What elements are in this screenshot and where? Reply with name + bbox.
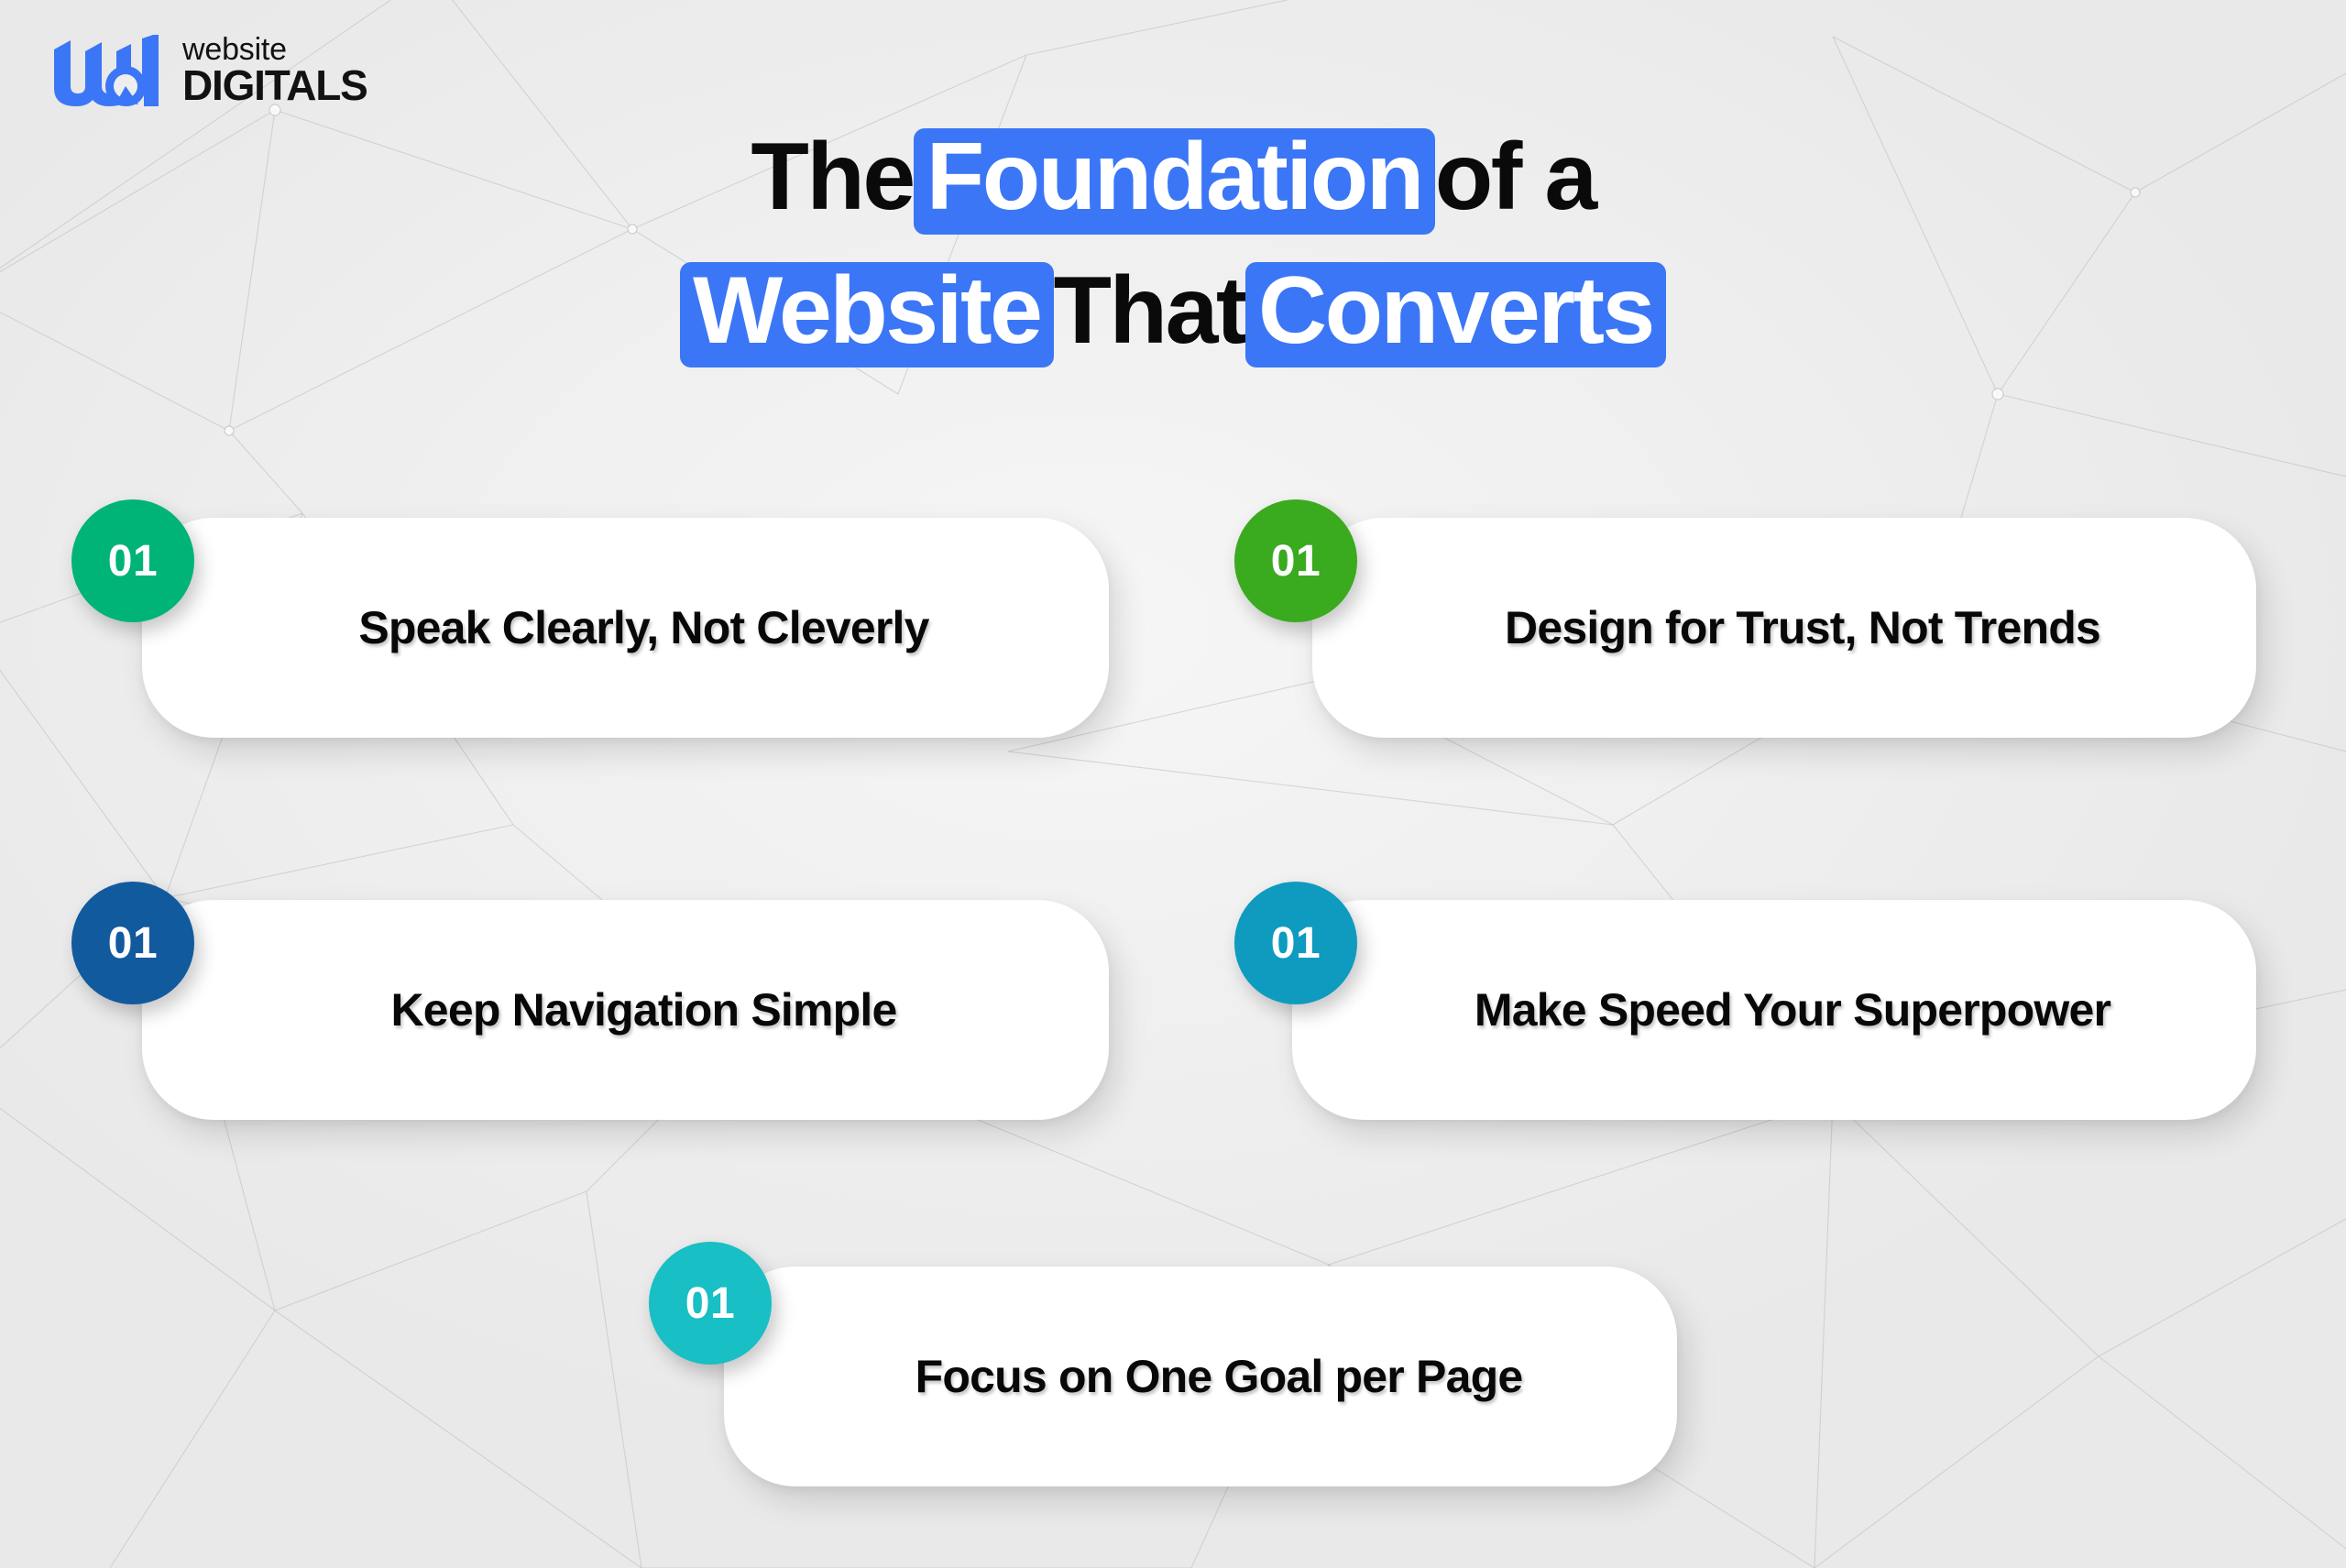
card-5-label: Focus on One Goal per Page <box>724 1350 1677 1403</box>
title-word-website: Website <box>680 262 1053 368</box>
card-3-label: Keep Navigation Simple <box>142 983 1109 1036</box>
title-word-converts: Converts <box>1245 262 1666 368</box>
card-2-number: 01 <box>1271 536 1321 587</box>
title-word-the: The <box>751 124 913 230</box>
title-word-foundation: Foundation <box>914 128 1435 235</box>
card-2[interactable]: Design for Trust, Not Trends <box>1312 518 2256 738</box>
card-4-label: Make Speed Your Superpower <box>1292 983 2256 1036</box>
card-1-number: 01 <box>108 536 158 587</box>
brand-logo[interactable]: website DIGITALS <box>50 35 367 106</box>
card-4-badge: 01 <box>1234 882 1357 1004</box>
card-5-number: 01 <box>685 1278 735 1329</box>
card-3-number: 01 <box>108 918 158 969</box>
title-word-ofa: of a <box>1435 124 1595 230</box>
card-2-badge: 01 <box>1234 499 1357 622</box>
brand-name-bottom: DIGITALS <box>182 66 367 105</box>
title-line-1: TheFoundationof a <box>0 128 2346 235</box>
card-2-label: Design for Trust, Not Trends <box>1312 601 2256 654</box>
card-1-badge: 01 <box>71 499 194 622</box>
card-1[interactable]: Speak Clearly, Not Cleverly <box>142 518 1109 738</box>
card-1-label: Speak Clearly, Not Cleverly <box>142 601 1109 654</box>
card-3-badge: 01 <box>71 882 194 1004</box>
card-5[interactable]: Focus on One Goal per Page <box>724 1266 1677 1486</box>
infographic-canvas: website DIGITALS TheFoundationof a Websi… <box>0 0 2346 1568</box>
wd-monogram-icon <box>50 35 170 106</box>
card-5-badge: 01 <box>649 1242 772 1365</box>
card-4-number: 01 <box>1271 918 1321 969</box>
title-word-that: That <box>1054 258 1246 364</box>
card-3[interactable]: Keep Navigation Simple <box>142 900 1109 1120</box>
title-line-2: WebsiteThatConverts <box>0 262 2346 368</box>
card-4[interactable]: Make Speed Your Superpower <box>1292 900 2256 1120</box>
page-title: TheFoundationof a WebsiteThatConverts <box>0 128 2346 367</box>
